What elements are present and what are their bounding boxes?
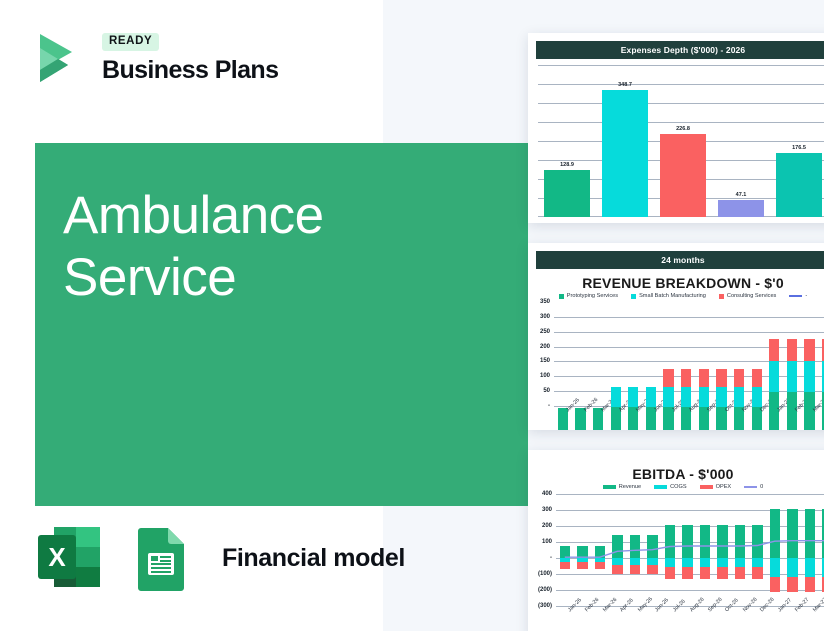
- bar-value-label: 128.9: [538, 162, 596, 168]
- chart-card-ebitda[interactable]: EBITDA - $'000 RevenueCOGSOPEX0 40030020…: [528, 450, 824, 631]
- revenue-chart-header: 24 months: [536, 251, 824, 269]
- legend-label: 0: [760, 484, 763, 490]
- legend-label: -: [805, 293, 807, 299]
- revenue-chart-title: REVENUE BREAKDOWN - $'0: [528, 275, 824, 291]
- legend-item: Prototyping Services: [559, 293, 618, 299]
- chart-card-expenses[interactable]: Expenses Depth ($'000) - 2026 128.9348.7…: [528, 33, 824, 223]
- stacked-bar: [716, 326, 726, 430]
- gridline: [538, 65, 824, 66]
- stacked-bar: [804, 326, 814, 430]
- bar-segment: [575, 408, 585, 430]
- svg-text:X: X: [48, 542, 66, 572]
- bar-value-label: 47.1: [712, 192, 770, 198]
- y-tick-label: 300: [540, 314, 550, 320]
- brand-text: READY Business Plans: [102, 31, 278, 83]
- bar-segment: [699, 369, 709, 387]
- legend-label: COGS: [670, 484, 686, 490]
- bar-segment: [699, 387, 709, 408]
- legend-item: -: [789, 293, 807, 299]
- stacked-bar: [558, 326, 568, 430]
- format-row: X Financial model: [32, 521, 405, 595]
- stacked-bar: [575, 326, 585, 430]
- y-tick-label: -: [548, 403, 550, 409]
- legend-item: COGS: [654, 484, 686, 490]
- ebitda-chart-legend: RevenueCOGSOPEX0: [528, 484, 824, 490]
- bar: [776, 153, 822, 217]
- legend-swatch: [559, 294, 564, 299]
- gridline: [554, 317, 824, 318]
- gridline: [538, 84, 824, 85]
- stacked-bar: [681, 326, 691, 430]
- legend-swatch: [654, 485, 667, 489]
- bar-segment: [769, 339, 779, 361]
- stacked-bar: [646, 326, 656, 430]
- stacked-bar: [787, 326, 797, 430]
- legend-label: OPEX: [716, 484, 732, 490]
- bar: [718, 200, 764, 217]
- bar-segment: [716, 387, 726, 408]
- google-sheets-icon: [124, 521, 198, 595]
- bar-segment: [734, 369, 744, 387]
- bar-segment: [663, 369, 673, 387]
- bar-segment: [752, 369, 762, 387]
- legend-item: Consulting Services: [719, 293, 776, 299]
- bar-segment: [663, 387, 673, 408]
- expenses-chart-header: Expenses Depth ($'000) - 2026: [536, 41, 824, 59]
- legend-swatch: [789, 295, 802, 297]
- bar-value-label: 348.7: [596, 82, 654, 88]
- ebitda-zero-line: [528, 494, 824, 606]
- bar-segment: [804, 361, 814, 392]
- brand-name: Business Plans: [102, 57, 278, 83]
- legend-swatch: [631, 294, 636, 299]
- ebitda-plot-area: 400300200100-(100)(200)(300)Jan-26Feb-26…: [528, 494, 824, 631]
- stacked-bar: [628, 326, 638, 430]
- bar-segment: [787, 339, 797, 361]
- gridline: [538, 103, 824, 104]
- expenses-plot-area: 128.9348.7226.847.1176.5: [538, 65, 824, 217]
- play-logo-icon: [28, 26, 90, 88]
- bar: [660, 134, 706, 217]
- y-tick-label: 150: [540, 358, 550, 364]
- bar: [544, 170, 590, 217]
- bar-segment: [611, 387, 621, 408]
- bar-segment: [804, 339, 814, 361]
- y-tick-label: 50: [543, 388, 550, 394]
- bar-segment: [681, 369, 691, 387]
- bar-segment: [787, 361, 797, 392]
- bar-segment: [646, 387, 656, 408]
- stacked-bar: [611, 326, 621, 430]
- legend-item: 0: [744, 484, 763, 490]
- y-tick-label: 100: [540, 373, 550, 379]
- bar-segment: [628, 387, 638, 408]
- bar-segment: [752, 387, 762, 408]
- title-block: Ambulance Service: [35, 143, 528, 506]
- stacked-bar: [769, 326, 779, 430]
- stacked-bar: [593, 326, 603, 430]
- legend-swatch: [744, 486, 757, 488]
- legend-label: Consulting Services: [727, 293, 776, 299]
- legend-item: Revenue: [603, 484, 641, 490]
- slide-canvas: READY Business Plans Ambulance Service X: [0, 0, 824, 631]
- legend-item: Small Batch Manufacturing: [631, 293, 706, 299]
- stacked-bar: [663, 326, 673, 430]
- y-tick-label: 350: [540, 299, 550, 305]
- brand-lockup: READY Business Plans: [28, 26, 278, 88]
- legend-label: Prototyping Services: [567, 293, 618, 299]
- legend-swatch: [700, 485, 713, 489]
- bar-segment: [681, 387, 691, 408]
- stacked-bar: [699, 326, 709, 430]
- revenue-chart-legend: Prototyping ServicesSmall Batch Manufact…: [528, 293, 824, 299]
- legend-label: Small Batch Manufacturing: [639, 293, 706, 299]
- legend-label: Revenue: [619, 484, 641, 490]
- y-tick-label: 250: [540, 329, 550, 335]
- stacked-bar: [734, 326, 744, 430]
- legend-item: OPEX: [700, 484, 732, 490]
- bar-segment: [769, 361, 779, 392]
- y-tick-label: 200: [540, 344, 550, 350]
- legend-swatch: [603, 485, 616, 489]
- stacked-bar: [752, 326, 762, 430]
- microsoft-excel-icon: X: [32, 521, 106, 595]
- revenue-plot-area: 35030025020015010050-Jan-26Feb-26Mar-26A…: [528, 302, 824, 430]
- ebitda-chart-title: EBITDA - $'000: [528, 466, 824, 482]
- bar-segment: [734, 387, 744, 408]
- legend-swatch: [719, 294, 724, 299]
- bar-value-label: 176.5: [770, 145, 824, 151]
- bar-value-label: 226.8: [654, 126, 712, 132]
- gridline: [538, 122, 824, 123]
- page-title: Ambulance Service: [63, 185, 493, 309]
- financial-model-label: Financial model: [222, 544, 405, 573]
- chart-card-revenue-breakdown[interactable]: 24 months REVENUE BREAKDOWN - $'0 Protot…: [528, 243, 824, 430]
- ready-badge: READY: [102, 33, 159, 51]
- bar-segment: [716, 369, 726, 387]
- bar: [602, 90, 648, 217]
